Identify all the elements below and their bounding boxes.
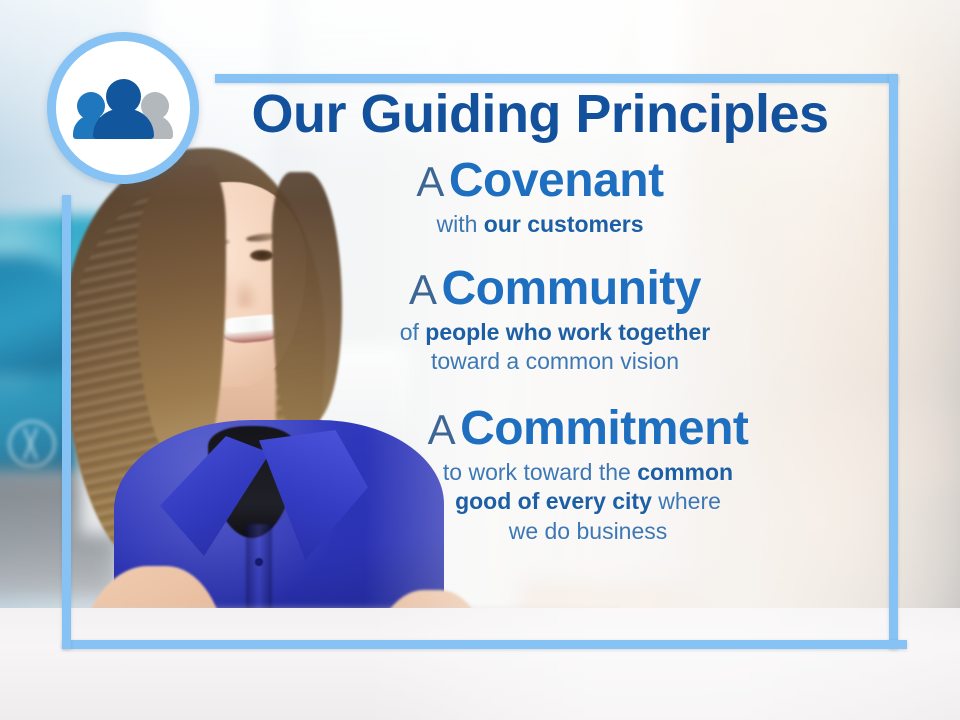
principle-lead: A [416, 158, 444, 205]
principle-headline: A Covenant [200, 157, 880, 206]
principle-headline: A Community [230, 265, 880, 314]
principle-description: to work toward the common good of every … [296, 458, 880, 546]
people-group-badge [47, 32, 199, 184]
principle-keyword: Community [441, 262, 701, 315]
principle-description: of people who work together toward a com… [230, 318, 880, 377]
principle-lead: A [428, 406, 456, 453]
principle-headline: A Commitment [296, 405, 880, 454]
principle-description: with our customers [200, 210, 880, 239]
description-line: to work toward the common [296, 458, 880, 487]
poster-copy: Our Guiding Principles A Covenant with o… [200, 86, 880, 546]
page-title: Our Guiding Principles [200, 86, 880, 143]
description-line: good of every city where [296, 487, 880, 516]
principle-community: A Community of people who work together … [200, 265, 880, 377]
principle-keyword: Commitment [460, 402, 748, 455]
principle-commitment: A Commitment to work toward the common g… [200, 405, 880, 546]
description-line: we do business [296, 517, 880, 546]
guiding-principles-poster: FLOW AUTOMOTIVE FLOW [0, 0, 960, 720]
description-line: of people who work together [230, 318, 880, 347]
description-line: toward a common vision [230, 347, 880, 376]
principle-keyword: Covenant [449, 154, 664, 207]
description-line: with our customers [200, 210, 880, 239]
principle-covenant: A Covenant with our customers [200, 157, 880, 239]
principle-lead: A [409, 266, 437, 313]
people-group-icon [75, 79, 171, 137]
